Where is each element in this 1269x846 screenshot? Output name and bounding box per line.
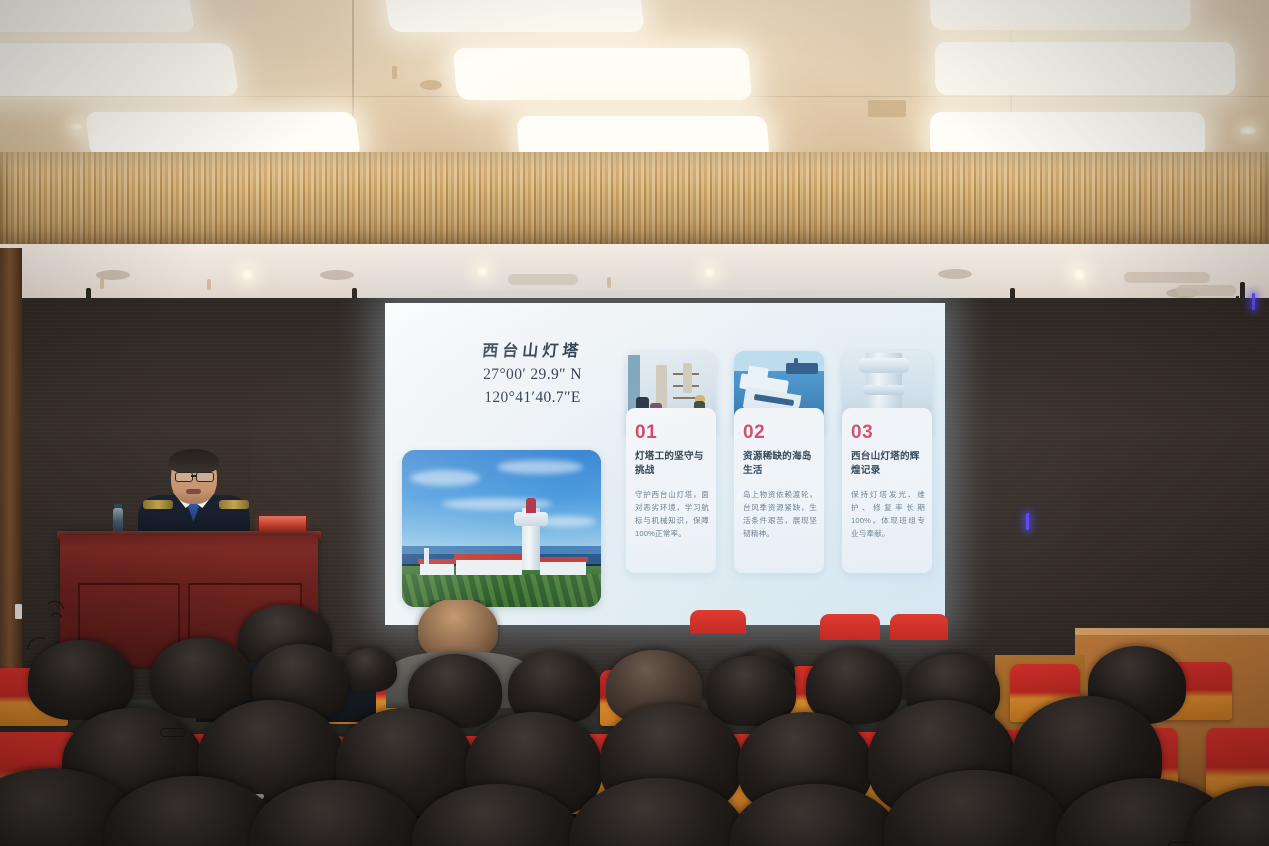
ceiling-light-panel xyxy=(0,0,196,32)
seat[interactable] xyxy=(890,614,948,640)
ceiling-sprinkler xyxy=(100,278,104,289)
slide-title: 西台山灯塔 xyxy=(419,337,647,361)
seat[interactable] xyxy=(820,614,880,640)
ceiling-downlight xyxy=(1240,126,1256,135)
ceiling-downlight xyxy=(70,122,86,131)
audience-glasses xyxy=(160,728,186,737)
ceiling-light-panel xyxy=(929,0,1191,30)
slide-longitude: 120°41′40.7″E xyxy=(420,389,645,407)
speaker-glasses-right-lens xyxy=(196,472,214,482)
ceiling-sprinkler xyxy=(607,277,611,288)
card-body: 保持灯塔发光、维护、修复率长期100%，体现班组专业与奉献。 xyxy=(851,488,925,540)
ceiling-downlight xyxy=(1073,268,1086,281)
ceiling-vent xyxy=(1124,272,1210,283)
seat[interactable] xyxy=(690,610,746,634)
speaker-epaulette-left xyxy=(143,500,173,509)
card-title: 资源稀缺的海岛生活 xyxy=(743,450,817,477)
lighthouse-hero-photo xyxy=(402,450,601,607)
info-card: 01 灯塔工的坚守与挑战 守护西台山灯塔，面对恶劣环境，学习航标与机械知识，保障… xyxy=(626,408,716,573)
lecture-hall-photo: 西台山灯塔 27°00′ 29.9″ N 120°41′40.7″E xyxy=(0,0,1269,846)
status-led-indicator xyxy=(1252,293,1255,310)
info-card: 02 资源稀缺的海岛生活 岛上物资依赖渡轮，台风季资源紧缺，生活条件艰苦，展现坚… xyxy=(734,408,824,573)
ceiling-downlight xyxy=(703,266,716,279)
speaker-glasses-left-lens xyxy=(175,472,193,482)
ceiling-downlight xyxy=(476,265,489,278)
audience-head xyxy=(418,600,498,660)
ceiling-vent xyxy=(508,274,578,285)
ceiling-light-panel xyxy=(0,43,239,96)
status-led-indicator xyxy=(1026,513,1029,530)
ceiling-vent xyxy=(1176,285,1236,296)
card-number: 02 xyxy=(743,422,765,444)
audience-area xyxy=(0,600,1269,846)
ceiling xyxy=(0,0,1269,160)
ceiling-speaker xyxy=(938,269,972,279)
ceiling-sprinkler xyxy=(392,66,397,79)
ceiling-light-panel xyxy=(935,42,1236,95)
info-card: 03 西台山灯塔的辉煌记录 保持灯塔发光、维护、修复率长期100%，体现班组专业… xyxy=(842,408,932,573)
ceiling-light-panel xyxy=(453,48,753,100)
card-number: 03 xyxy=(851,422,873,444)
audience-head xyxy=(341,648,397,692)
card-title: 灯塔工的坚守与挑战 xyxy=(635,450,709,477)
ceiling-soffit xyxy=(0,244,1269,304)
speaker-glasses-bridge xyxy=(191,475,196,477)
speaker-hair xyxy=(169,449,219,473)
ceiling-speaker xyxy=(320,270,354,280)
card-number: 01 xyxy=(635,422,657,444)
card-title: 西台山灯塔的辉煌记录 xyxy=(851,450,925,477)
ceiling-light-panel xyxy=(382,0,645,32)
ceiling-speaker xyxy=(420,80,442,90)
wood-slat-shading xyxy=(0,152,1269,248)
slide-heading-block: 西台山灯塔 27°00′ 29.9″ N 120°41′40.7″E xyxy=(420,337,645,407)
audience-head xyxy=(28,640,134,720)
ceiling-downlight xyxy=(241,268,254,281)
ceiling-vent xyxy=(868,100,906,117)
slide-latitude: 27°00′ 29.9″ N xyxy=(420,366,645,384)
speaker-mouth xyxy=(186,489,201,494)
projection-screen: 西台山灯塔 27°00′ 29.9″ N 120°41′40.7″E xyxy=(385,303,945,625)
speaker-epaulette-right xyxy=(219,500,249,509)
ceiling-sprinkler xyxy=(207,279,211,290)
card-body: 岛上物资依赖渡轮，台风季资源紧缺，生活条件艰苦，展现坚韧精神。 xyxy=(743,488,817,540)
card-body: 守护西台山灯塔，面对恶劣环境，学习航标与机械知识，保障100%正常率。 xyxy=(635,488,709,540)
audience-glasses xyxy=(1168,842,1194,846)
